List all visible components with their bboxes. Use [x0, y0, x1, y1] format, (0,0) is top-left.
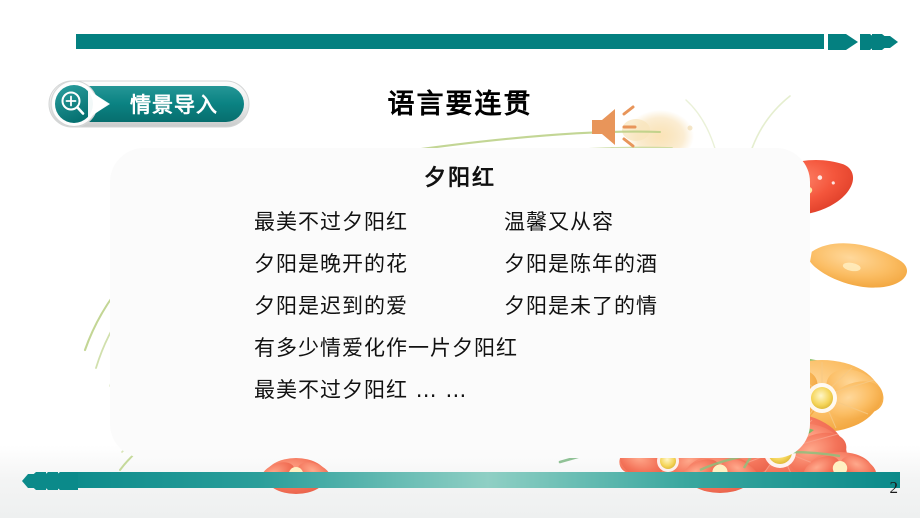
- poem-body: 最美不过夕阳红 温馨又从容 夕阳是晚开的花 夕阳是陈年的酒 夕阳是迟到的爱 夕阳…: [254, 200, 774, 410]
- poem-line: 有多少情爱化作一片夕阳红: [254, 326, 774, 368]
- page-title: 语言要连贯: [0, 82, 920, 121]
- slide: 情景导入 语言要连贯 夕阳红 最美不过夕阳红 温馨又从容 夕阳是晚开的花 夕阳是…: [0, 0, 920, 518]
- speaker-icon[interactable]: [588, 104, 644, 150]
- poem-title: 夕阳红: [0, 160, 920, 192]
- poem-line-left: 夕阳是迟到的爱: [254, 290, 504, 320]
- poem-line-full: 有多少情爱化作一片夕阳红: [254, 332, 518, 362]
- bottom-decorative-bar: [0, 470, 920, 492]
- poem-line: 夕阳是迟到的爱 夕阳是未了的情: [254, 284, 774, 326]
- chevrons-left-icon: [22, 470, 78, 492]
- poem-line-right: 夕阳是未了的情: [504, 290, 658, 320]
- bottom-bar-fill: [76, 472, 900, 488]
- poem-line: 最美不过夕阳红 温馨又从容: [254, 200, 774, 242]
- chevrons-right-icon: [828, 32, 898, 52]
- poem-line: 夕阳是晚开的花 夕阳是陈年的酒: [254, 242, 774, 284]
- top-decorative-bar: [0, 32, 920, 52]
- poem-line-left: 最美不过夕阳红: [254, 206, 504, 236]
- poem-line-left: 夕阳是晚开的花: [254, 248, 504, 278]
- poem-line-right: 夕阳是陈年的酒: [504, 248, 658, 278]
- poem-line-right: 温馨又从容: [504, 206, 614, 236]
- page-number: 2: [890, 478, 899, 498]
- poem-line: 最美不过夕阳红 … …: [254, 368, 774, 410]
- poem-line-full: 最美不过夕阳红 … …: [254, 374, 467, 404]
- top-bar-fill: [76, 34, 824, 49]
